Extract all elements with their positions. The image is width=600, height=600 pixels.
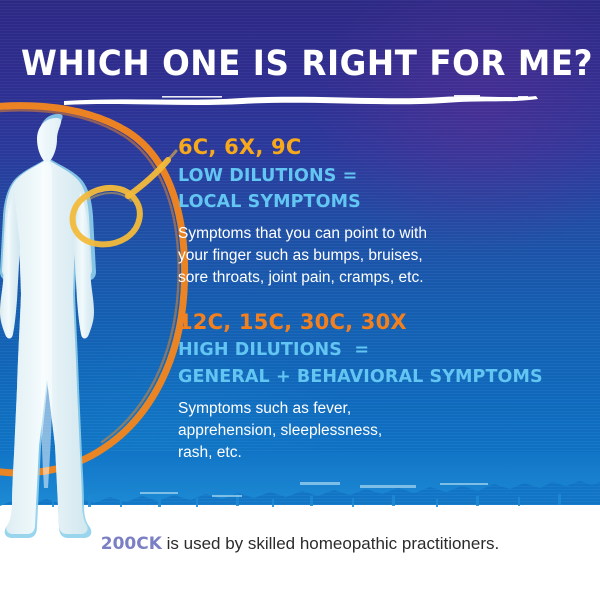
footer-text: is used by skilled homeopathic practitio… (162, 534, 499, 553)
body-low-line-2: your finger such as bumps, bruises, (178, 245, 578, 267)
infographic-canvas: WHICH ONE IS RIGHT FOR ME? (0, 0, 600, 600)
dose-label-high: 12C, 15C, 30C, 30X (178, 311, 578, 335)
page-title: WHICH ONE IS RIGHT FOR ME? (21, 44, 579, 84)
body-low-line-1: Symptoms that you can point to with (178, 223, 578, 245)
body-low-line-3: sore throats, joint pain, cramps, etc. (178, 267, 578, 289)
subtitle-high-line-1: HIGH DILUTIONS = (178, 340, 578, 362)
body-high-line-3: rash, etc. (178, 442, 578, 464)
dilution-block-high: 12C, 15C, 30C, 30X HIGH DILUTIONS = GENE… (178, 311, 578, 464)
footer-potency-code: 200CK (101, 534, 162, 554)
body-high-line-1: Symptoms such as fever, (178, 398, 578, 420)
body-high-line-2: apprehension, sleeplessness, (178, 420, 578, 442)
subtitle-low-line-2: LOCAL SYMPTOMS (178, 192, 578, 214)
subtitle-low-line-1: LOW DILUTIONS = (178, 166, 578, 188)
subtitle-high-line-2: GENERAL + BEHAVIORAL SYMPTOMS (178, 367, 578, 389)
content-column: 6C, 6X, 9C LOW DILUTIONS = LOCAL SYMPTOM… (178, 136, 578, 464)
dose-label-low: 6C, 6X, 9C (178, 136, 578, 160)
dilution-block-low: 6C, 6X, 9C LOW DILUTIONS = LOCAL SYMPTOM… (178, 136, 578, 289)
human-body-silhouette (0, 114, 96, 538)
footer-note: 200CK is used by skilled homeopathic pra… (0, 534, 600, 554)
